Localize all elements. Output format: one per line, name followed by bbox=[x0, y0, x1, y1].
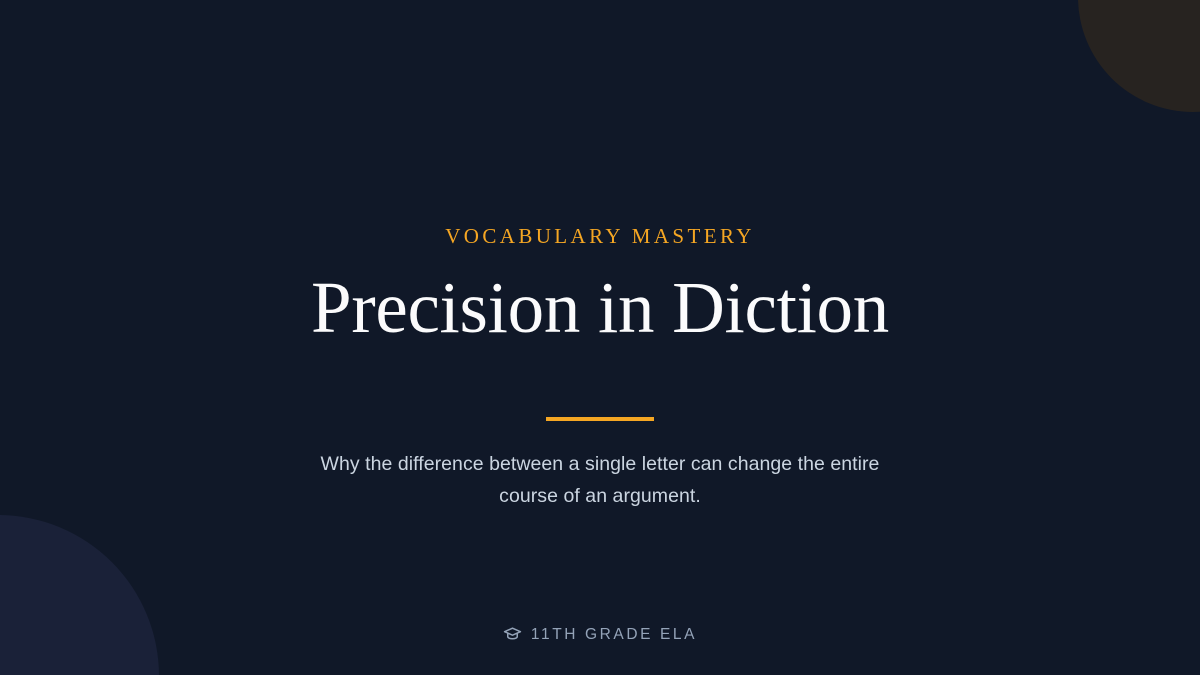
slide-subtitle: Why the difference between a single lett… bbox=[310, 448, 890, 513]
slide-content: VOCABULARY MASTERY Precision in Diction … bbox=[0, 0, 1200, 675]
slide-footer: 11TH GRADE ELA bbox=[0, 625, 1200, 644]
eyebrow-label: VOCABULARY MASTERY bbox=[445, 226, 755, 247]
title-slide: VOCABULARY MASTERY Precision in Diction … bbox=[0, 0, 1200, 675]
accent-divider bbox=[546, 417, 654, 421]
graduation-cap-icon bbox=[503, 625, 522, 644]
footer-label: 11TH GRADE ELA bbox=[531, 627, 697, 643]
page-title: Precision in Diction bbox=[311, 270, 889, 346]
